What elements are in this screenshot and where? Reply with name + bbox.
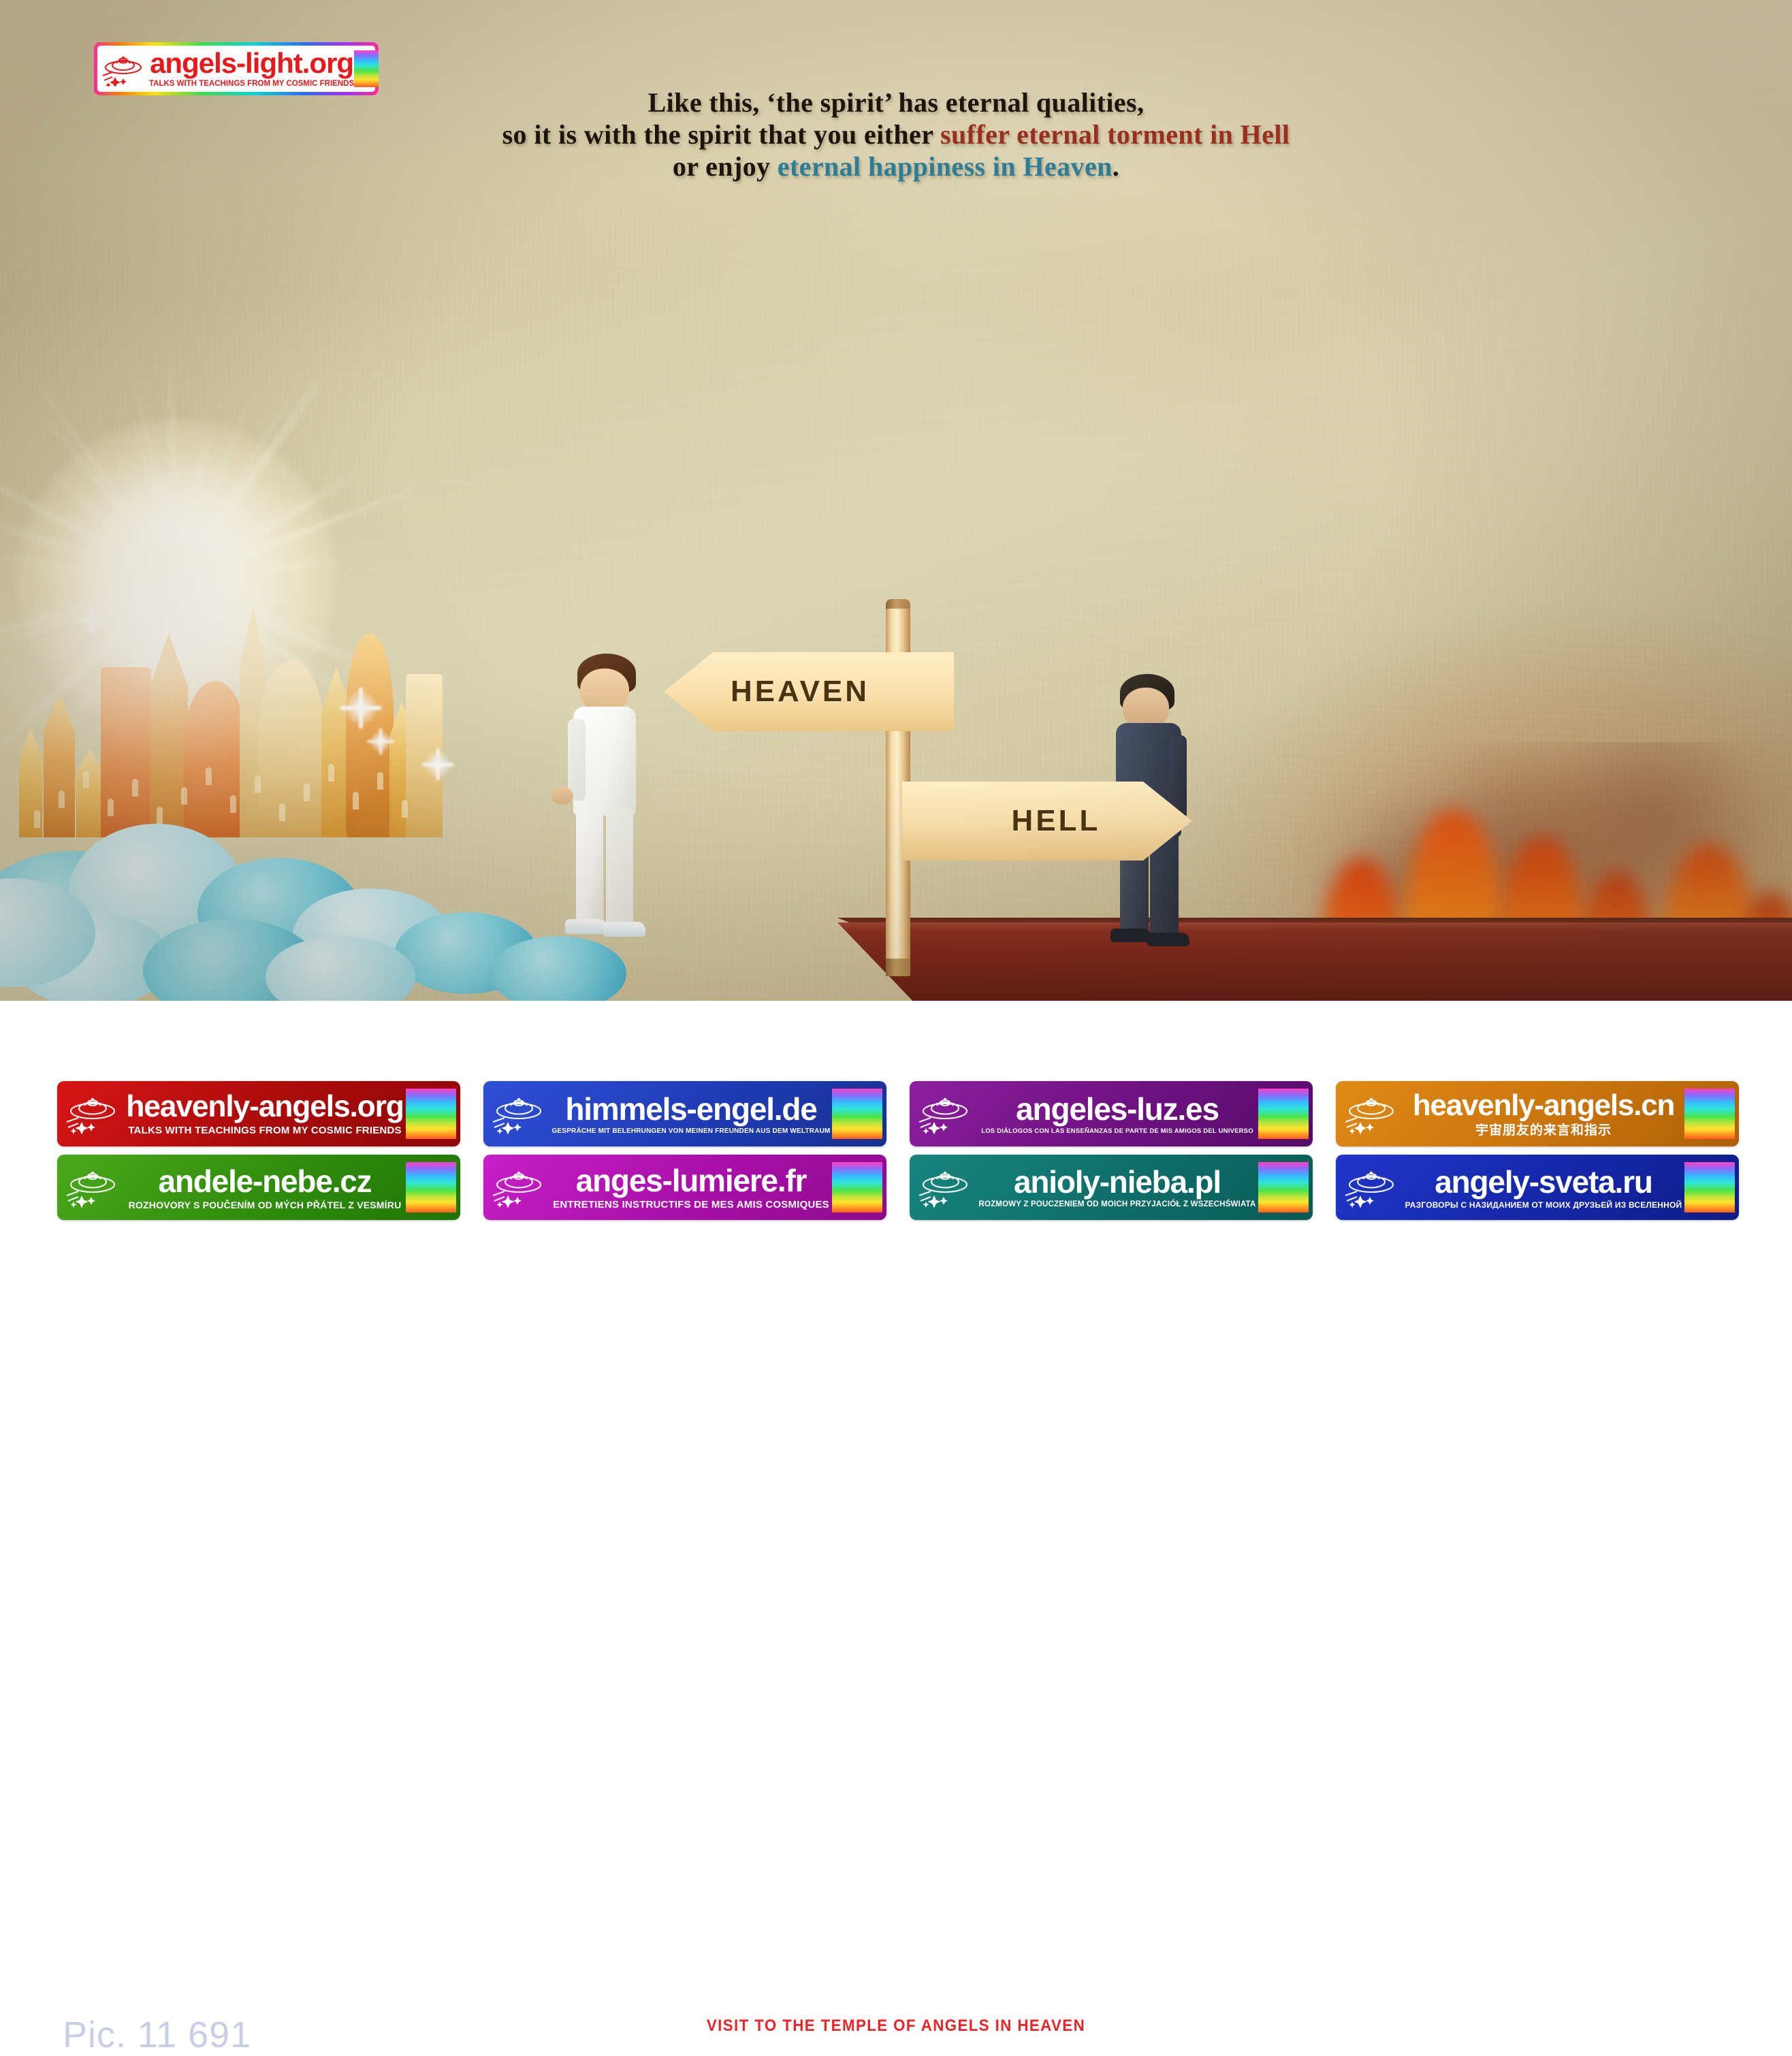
ufo-icon: [64, 1092, 123, 1136]
banner-domain: anges-lumiere.fr: [576, 1165, 807, 1196]
ufo-icon: [490, 1092, 549, 1136]
ufo-icon: [1343, 1166, 1401, 1209]
rainbow-chip-icon: [832, 1162, 882, 1212]
banner-text: himmels-engel.deGESPRÄCHE MIT BELEHRUNGE…: [551, 1093, 831, 1135]
caption-row: Pic. 11 691 VISIT TO THE TEMPLE OF ANGEL…: [0, 1001, 1792, 1082]
rainbow-chip-icon: [1258, 1162, 1309, 1212]
banner-heavenly-angels-org[interactable]: heavenly-angels.orgTALKS WITH TEACHINGS …: [57, 1081, 460, 1146]
quote-hell-phrase: suffer eternal torment in Hell: [940, 119, 1290, 150]
quote-line1-part-a: Like this,: [648, 87, 767, 118]
banner-domain: himmels-engel.de: [565, 1093, 816, 1125]
banner-anioly-nieba-pl[interactable]: anioly-nieba.plROZMOWY Z POUCZENIEM OD M…: [910, 1155, 1313, 1220]
banner-subtitle: GESPRÄCHE MIT BELEHRUNGEN VON MEINEN FRE…: [551, 1128, 830, 1135]
banner-text: andele-nebe.czROZHOVORY S POUČENÍM OD MÝ…: [125, 1166, 404, 1210]
rainbow-chip-icon: [354, 50, 379, 87]
language-banner-grid: heavenly-angels.orgTALKS WITH TEACHINGS …: [57, 1081, 1739, 1220]
site-logo-text: angels-light.org TALKS WITH TEACHINGS FR…: [149, 49, 354, 89]
banner-subtitle: РАЗГОВОРЫ С НАЗИДАНИЕМ ОТ МОИХ ДРУЗЬЕЙ И…: [1405, 1201, 1682, 1209]
quote-line-3: or enjoy eternal happiness in Heaven.: [0, 151, 1792, 183]
quote-line3-part-a: or enjoy: [673, 151, 778, 182]
site-logo-badge[interactable]: angels-light.org TALKS WITH TEACHINGS FR…: [94, 42, 379, 95]
quote-text: Like this, ‘the spirit’ has eternal qual…: [0, 87, 1792, 182]
banner-subtitle: ENTRETIENS INSTRUCTIFS DE MES AMIS COSMI…: [553, 1200, 829, 1210]
quote-line3-period: .: [1113, 151, 1119, 182]
quote-line2-part-a: so it is with the spirit that you either: [502, 119, 940, 150]
banner-himmels-engel-de[interactable]: himmels-engel.deGESPRÄCHE MIT BELEHRUNGE…: [483, 1081, 886, 1146]
banner-text: anioly-nieba.plROZMOWY Z POUCZENIEM OD M…: [978, 1166, 1257, 1209]
banner-angeles-luz-es[interactable]: angeles-luz.esLOS DIÁLOGOS CON LAS ENSEÑ…: [910, 1081, 1313, 1146]
banner-andele-nebe-cz[interactable]: andele-nebe.czROZHOVORY S POUČENÍM OD MÝ…: [57, 1155, 460, 1220]
illustration: HEAVEN HELL Like this, ‘the spirit’ has …: [0, 0, 1792, 1001]
ufo-icon: [64, 1166, 123, 1209]
quote-line-2: so it is with the spirit that you either…: [0, 119, 1792, 151]
ufo-icon: [916, 1092, 975, 1136]
banner-text: angely-sveta.ruРАЗГОВОРЫ С НАЗИДАНИЕМ ОТ…: [1404, 1166, 1683, 1209]
banner-domain: heavenly-angels.org: [126, 1092, 404, 1123]
banner-subtitle: ROZHOVORY S POUČENÍM OD MÝCH PŘÁTEL Z VE…: [129, 1200, 402, 1210]
banner-domain: andele-nebe.cz: [159, 1166, 372, 1197]
banner-anges-lumiere-fr[interactable]: anges-lumiere.frENTRETIENS INSTRUCTIFS D…: [483, 1155, 886, 1220]
site-logo-inner: angels-light.org TALKS WITH TEACHINGS FR…: [97, 46, 375, 92]
picture-page: HEAVEN HELL Like this, ‘the spirit’ has …: [0, 0, 1792, 1225]
quote-line1-part-c: has eternal qualities,: [891, 87, 1144, 118]
rainbow-chip-icon: [1684, 1162, 1735, 1212]
banner-subtitle: LOS DIÁLOGOS CON LAS ENSEÑANZAS DE PARTE…: [981, 1128, 1253, 1135]
quote-line1-emphasis: ‘the spirit’: [767, 87, 891, 118]
banner-domain: angely-sveta.ru: [1435, 1166, 1652, 1198]
page-title: VISIT TO THE TEMPLE OF ANGELS IN HEAVEN: [63, 2017, 1729, 2036]
banner-domain: angeles-luz.es: [1016, 1093, 1219, 1125]
banner-text: heavenly-angels.cn宇宙朋友的来言和指示: [1404, 1091, 1683, 1137]
banner-text: anges-lumiere.frENTRETIENS INSTRUCTIFS D…: [551, 1165, 831, 1210]
rainbow-chip-icon: [1258, 1089, 1309, 1139]
banner-subtitle: ROZMOWY Z POUCZENIEM OD MOICH PRZYJACIÓŁ…: [978, 1201, 1255, 1209]
site-logo-domain: angels-light.org: [150, 49, 353, 78]
banner-heavenly-angels-cn[interactable]: heavenly-angels.cn宇宙朋友的来言和指示: [1336, 1081, 1739, 1146]
banner-subtitle: TALKS WITH TEACHINGS FROM MY COSMIC FRIE…: [128, 1125, 401, 1136]
banner-domain: heavenly-angels.cn: [1413, 1091, 1674, 1121]
rainbow-chip-icon: [1684, 1089, 1735, 1139]
banner-domain: anioly-nieba.pl: [1014, 1166, 1221, 1198]
ufo-icon: [1343, 1092, 1401, 1136]
site-logo-subtitle: TALKS WITH TEACHINGS FROM MY COSMIC FRIE…: [149, 80, 354, 89]
rainbow-chip-icon: [406, 1089, 456, 1139]
quote-heaven-phrase: eternal happiness in Heaven: [778, 151, 1113, 182]
ufo-icon: [100, 51, 149, 86]
banner-angely-sveta-ru[interactable]: angely-sveta.ruРАЗГОВОРЫ С НАЗИДАНИЕМ ОТ…: [1336, 1155, 1739, 1220]
banner-text: heavenly-angels.orgTALKS WITH TEACHINGS …: [125, 1092, 404, 1136]
ufo-icon: [490, 1166, 549, 1209]
ufo-icon: [916, 1166, 975, 1209]
rainbow-chip-icon: [406, 1162, 456, 1212]
banner-text: angeles-luz.esLOS DIÁLOGOS CON LAS ENSEÑ…: [978, 1093, 1257, 1135]
banner-subtitle: 宇宙朋友的来言和指示: [1475, 1124, 1612, 1137]
rainbow-chip-icon: [832, 1089, 882, 1139]
